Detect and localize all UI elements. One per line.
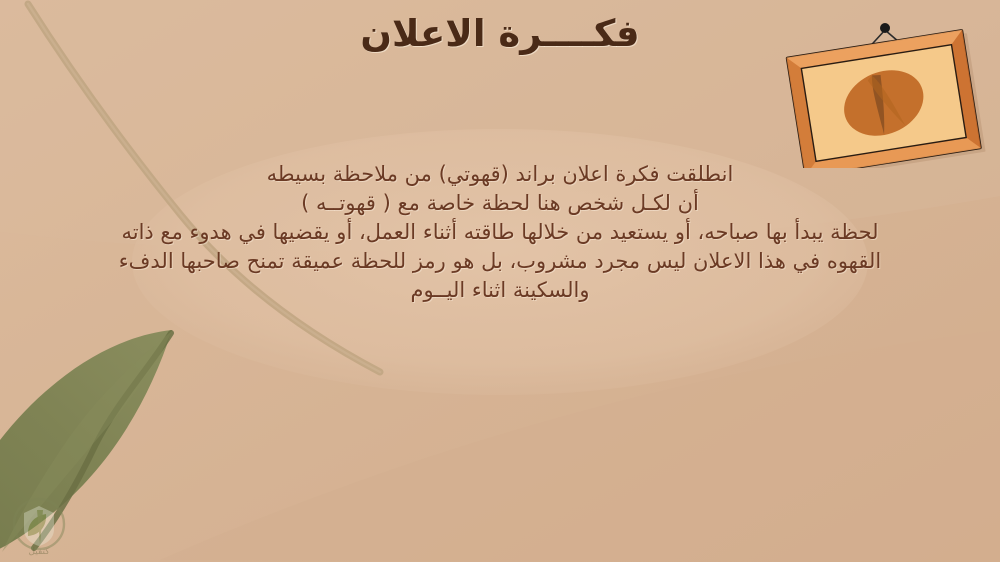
frame-body xyxy=(786,29,985,168)
body-line-4: القهوه في هذا الاعلان ليس مجرد مشروب، بل… xyxy=(50,247,950,276)
body-paragraph: انطلقت فكرة اعلان براند (قهوتي) من ملاحظ… xyxy=(50,160,950,305)
slide-canvas: فكــــرة الاعلان انطلقت فكرة اعلان براند… xyxy=(0,0,1000,562)
body-line-5: والسكينة اثناء اليــوم xyxy=(50,276,950,305)
coffee-bean-picture-frame xyxy=(782,18,997,168)
watermark-logo: كتفيل xyxy=(6,496,80,558)
body-line-2: أن لكـل شخص هنا لحظة خاصة مع ( قهوتــه ) xyxy=(50,189,950,218)
watermark-text: كتفيل xyxy=(28,547,50,557)
nail-icon xyxy=(880,23,890,33)
body-line-3: لحظة يبدأ بها صباحه، أو يستعيد من خلالها… xyxy=(50,218,950,247)
